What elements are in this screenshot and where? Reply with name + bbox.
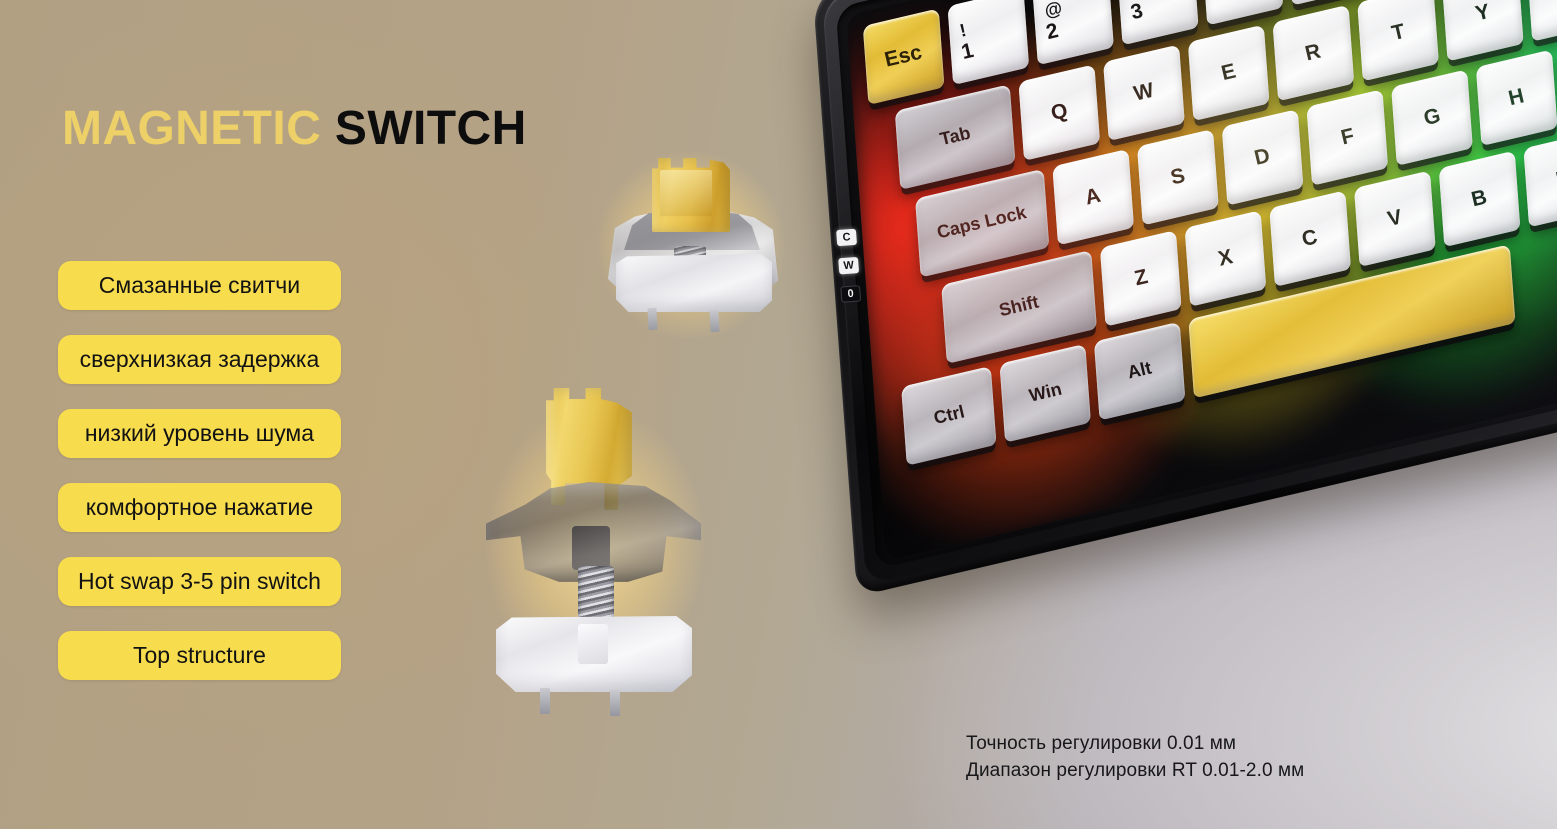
- switch-pin: [647, 308, 657, 330]
- feature-badge[interactable]: Top structure: [58, 631, 341, 680]
- feature-badge[interactable]: Hot swap 3-5 pin switch: [58, 557, 341, 606]
- switch-stem: [652, 158, 730, 232]
- feature-badge-list: Смазанные свитчисверхнизкая задержканизк…: [58, 261, 341, 705]
- assembled-magnetic-switch: [600, 158, 785, 333]
- feature-badge[interactable]: Смазанные свитчи: [58, 261, 341, 310]
- feature-badge[interactable]: комфортное нажатие: [58, 483, 341, 532]
- page-title-rest: SWITCH: [321, 102, 526, 155]
- page-title: MAGNETIC SWITCH: [62, 104, 527, 155]
- feature-badge[interactable]: низкий уровень шума: [58, 409, 341, 458]
- page-title-highlight: MAGNETIC: [62, 102, 321, 155]
- switch-housing-window: [572, 526, 610, 570]
- spec-caption-line-2: Диапазон регулировки RT 0.01-2.0 мм: [966, 758, 1304, 785]
- switch-pin: [540, 688, 550, 714]
- exploded-magnetic-switch: [486, 388, 701, 706]
- spec-caption: Точность регулировки 0.01 мм Диапазон ре…: [966, 731, 1304, 785]
- spec-caption-line-1: Точность регулировки 0.01 мм: [966, 731, 1304, 758]
- switch-center-post: [578, 624, 608, 664]
- feature-badge[interactable]: сверхнизкая задержка: [58, 335, 341, 384]
- switch-pin: [610, 690, 620, 716]
- background-cool-glow: [810, 0, 1557, 580]
- switch-bottom-housing: [616, 254, 772, 312]
- switch-pin: [709, 310, 719, 332]
